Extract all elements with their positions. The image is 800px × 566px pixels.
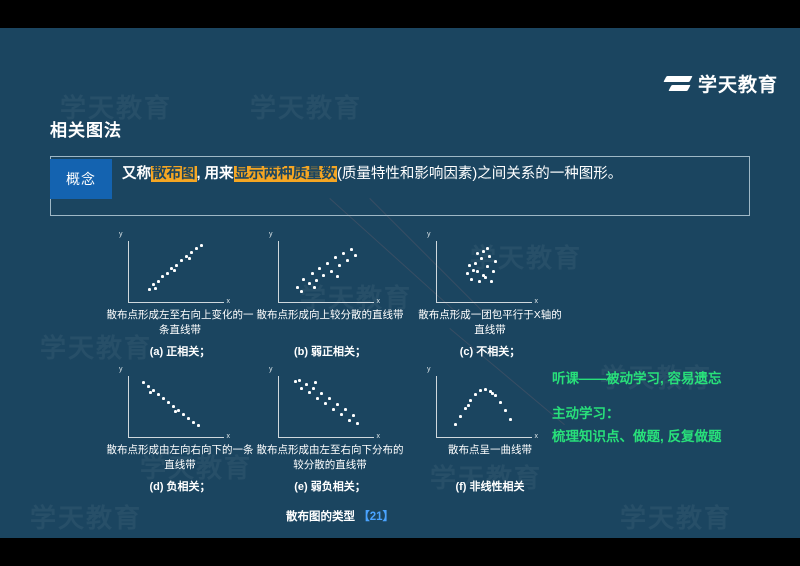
chart-caption-a: 散布点形成左至右向上变化的一条直线带: [105, 308, 255, 338]
bottom-caption-text: 散布图的类型: [286, 511, 355, 523]
scatter-chart-c: y x: [436, 233, 546, 303]
y-axis: [128, 376, 129, 438]
chart-label-f: (f) 非线性相关: [415, 478, 565, 494]
note-line-3: 梳理知识点、做题, 反复做题: [552, 426, 722, 448]
axis-label-x: x: [227, 298, 231, 305]
y-axis: [128, 241, 129, 303]
note-line-2: 主动学习：: [552, 403, 620, 425]
axis-label-x: x: [535, 433, 539, 440]
y-axis: [436, 376, 437, 438]
chart-label-e: (e) 弱负相关；: [255, 478, 405, 494]
axis-label-x: x: [377, 298, 381, 305]
watermark: 学天教育: [250, 88, 362, 125]
scatter-chart-a: y x: [128, 233, 238, 303]
x-axis: [436, 302, 532, 303]
axis-label-x: x: [377, 433, 381, 440]
scatter-chart-d: y x: [128, 368, 238, 438]
concept-part3: (质量特性和影响因素)之间关系的一种图形。: [337, 166, 622, 182]
scatter-chart-e: y x: [278, 368, 388, 438]
concept-highlight2: 显示两种质量数: [234, 166, 338, 182]
axis-label-y: y: [119, 231, 123, 238]
axis-label-x: x: [535, 298, 539, 305]
bottom-caption: 散布图的类型 【21】: [225, 508, 455, 524]
x-axis: [128, 437, 224, 438]
chart-label-c: (c) 不相关；: [415, 343, 565, 359]
chart-caption-b: 散布点形成向上较分散的直线带: [255, 308, 405, 323]
chart-caption-e: 散布点形成由左至右向下分布的较分散的直线带: [255, 443, 405, 473]
chart-caption-c: 散布点形成一团包平行于X轴的直线带: [415, 308, 565, 338]
brand-logo: 学天教育: [665, 70, 778, 97]
chart-caption-d: 散布点形成由左向右向下的一条直线带: [105, 443, 255, 473]
axis-label-y: y: [427, 366, 431, 373]
page-title: 相关图法: [50, 116, 122, 141]
y-axis: [278, 241, 279, 303]
chart-label-a: (a) 正相关；: [105, 343, 255, 359]
watermark: 学天教育: [620, 498, 732, 535]
page-number: 【21】: [358, 511, 394, 523]
chart-label-d: (d) 负相关；: [105, 478, 255, 494]
concept-part1: 又称: [122, 166, 151, 182]
concept-tag: 概念: [50, 159, 112, 199]
x-axis: [436, 437, 532, 438]
x-axis: [278, 437, 374, 438]
scatter-chart-b: y x: [278, 233, 388, 303]
concept-part2: , 用来: [197, 166, 234, 182]
x-axis: [278, 302, 374, 303]
y-axis: [436, 241, 437, 303]
concept-highlight1: 散布图: [151, 166, 197, 182]
axis-label-y: y: [269, 231, 273, 238]
axis-label-y: y: [269, 366, 273, 373]
chart-caption-f: 散布点呈一曲线带: [415, 443, 565, 458]
y-axis: [278, 376, 279, 438]
note-line-1: 听课——被动学习, 容易遗忘: [552, 368, 722, 390]
scatter-chart-f: y x: [436, 368, 546, 438]
brand-name: 学天教育: [698, 70, 778, 97]
watermark: 学天教育: [30, 498, 142, 535]
chart-label-b: (b) 弱正相关；: [255, 343, 405, 359]
swoosh-logo-icon: [665, 74, 691, 94]
axis-label-y: y: [119, 366, 123, 373]
axis-label-x: x: [227, 433, 231, 440]
slide-canvas: 学天教育 学天教育 学天教育 学天教育 学天教育 学天教育 学天教育 学天教育 …: [0, 28, 800, 538]
concept-text: 又称散布图, 用来显示两种质量数(质量特性和影响因素)之间关系的一种图形。: [122, 161, 742, 187]
x-axis: [128, 302, 224, 303]
axis-label-y: y: [427, 231, 431, 238]
